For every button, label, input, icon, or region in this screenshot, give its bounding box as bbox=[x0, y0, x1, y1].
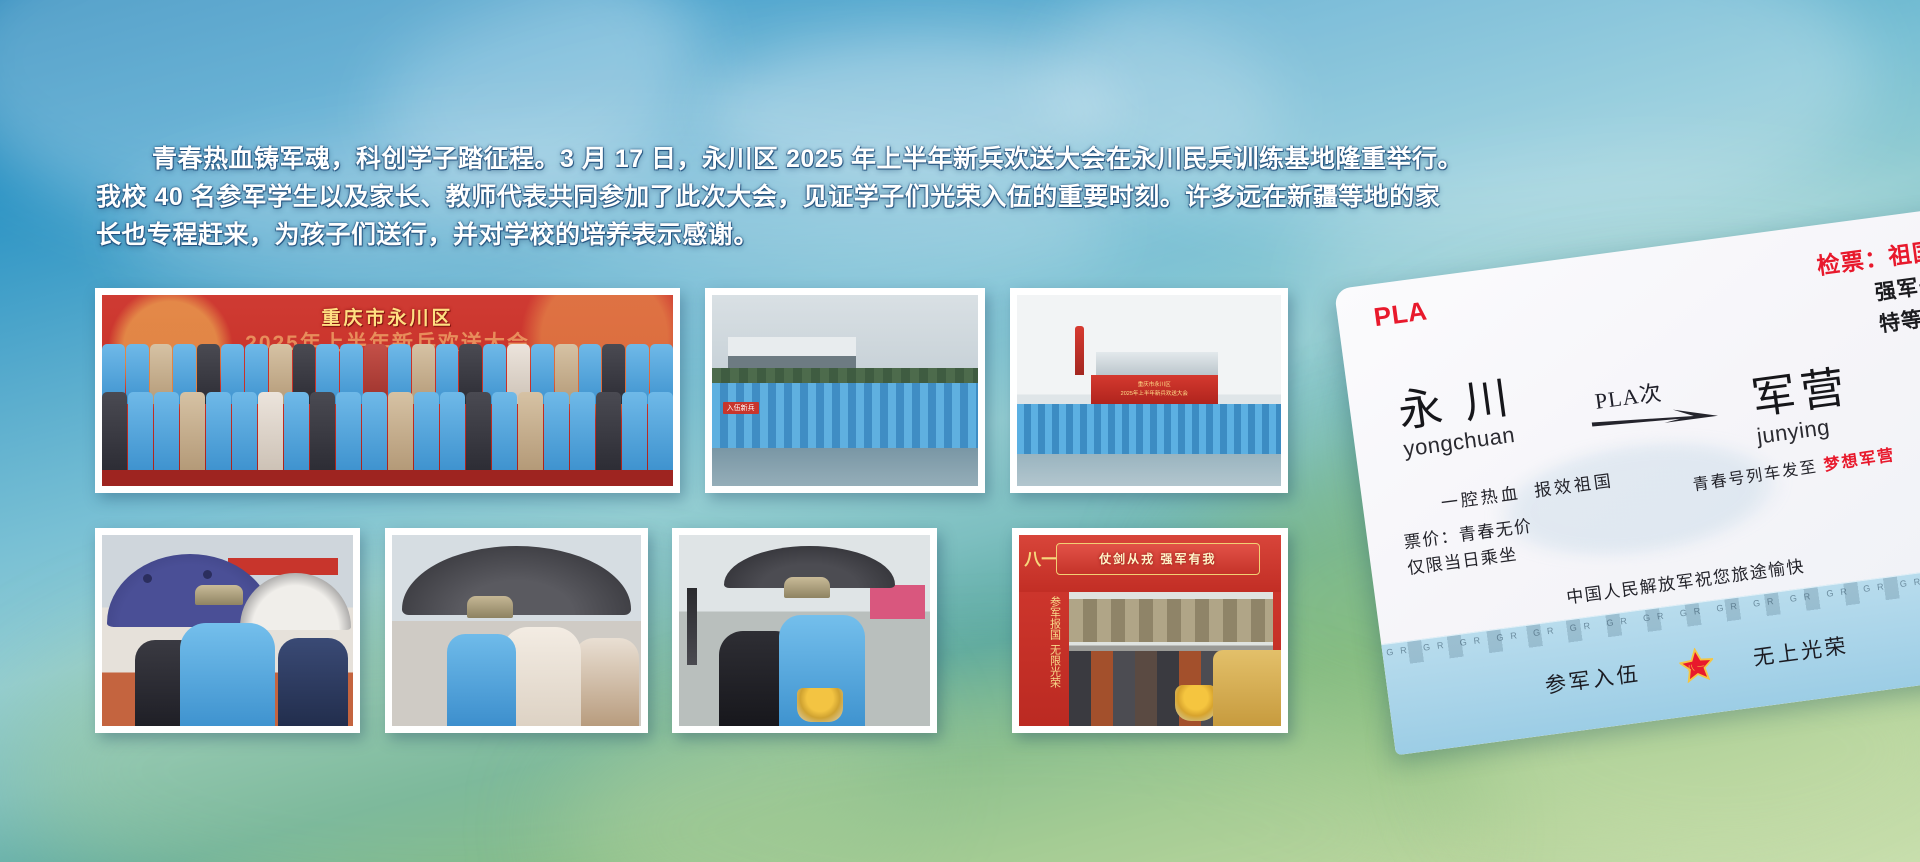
ticket-check-value: 祖国 bbox=[1887, 238, 1920, 270]
photo-umbrella-farewell[interactable] bbox=[95, 528, 360, 733]
crowd bbox=[102, 342, 673, 470]
recruit bbox=[447, 634, 517, 726]
photo-black-umbrella[interactable] bbox=[385, 528, 648, 733]
photo-image: 重庆市永川区 2025年上半年新兵欢送大会 bbox=[1017, 295, 1281, 486]
ticket-train-number-block: PLA次 bbox=[1585, 365, 1740, 434]
ticket-destination: 军营 junying bbox=[1749, 364, 1856, 450]
recruit bbox=[180, 623, 275, 726]
military-cap-icon bbox=[467, 596, 513, 618]
red-carpet bbox=[102, 470, 673, 486]
ticket-brand-label: PLA bbox=[1372, 295, 1429, 333]
couplet-line-2: 无限光荣 bbox=[1026, 644, 1061, 688]
black-umbrella-icon bbox=[402, 546, 631, 615]
photo-image: 入伍新兵 bbox=[712, 295, 978, 486]
ticket-bottom-right-text: 无上光荣 bbox=[1751, 630, 1850, 672]
wet-ground bbox=[1017, 454, 1281, 486]
backdrop-title: 重庆市永川区 bbox=[102, 303, 673, 330]
photo-red-arch[interactable]: 八一 仗剑从戎 强军有我 参军报国 无限光荣 bbox=[1012, 528, 1288, 733]
headline-paragraph: 青春热血铸军魂，科创学子踏征程。3 月 17 日，永川区 2025 年上半年新兵… bbox=[96, 140, 1566, 254]
bystander bbox=[278, 638, 348, 726]
ticket-origin: 永 川 yongchuan bbox=[1396, 375, 1520, 463]
ticket-fare-value: 青春无价 bbox=[1458, 516, 1534, 545]
arch-scroll-text: 仗剑从戎 强军有我 bbox=[1056, 543, 1260, 575]
photo-image: 重庆市永川区 2025年上半年新兵欢送大会 bbox=[102, 295, 673, 486]
crowd-front-row bbox=[102, 392, 673, 470]
poster-canvas: 青春热血铸军魂，科创学子踏征程。3 月 17 日，永川区 2025 年上半年新兵… bbox=[0, 0, 1920, 862]
stage-banner-line-1: 重庆市永川区 bbox=[1091, 381, 1218, 389]
flower-bouquet-icon bbox=[797, 688, 843, 722]
gold-pillar bbox=[1213, 650, 1281, 726]
photo-embrace[interactable] bbox=[672, 528, 937, 733]
photo-image bbox=[679, 535, 930, 726]
bayi-badge: 八一 bbox=[1024, 539, 1058, 581]
ticket-route-destination: 梦想军营 bbox=[1823, 447, 1897, 475]
photo-image bbox=[102, 535, 353, 726]
ticket-fare-label: 票价： bbox=[1403, 526, 1461, 552]
photo-image bbox=[392, 535, 641, 726]
ticket-check-label: 检票： bbox=[1815, 244, 1890, 279]
photo-image: 八一 仗剑从戎 强军有我 参军报国 无限光荣 bbox=[1019, 535, 1281, 726]
arch-side-couplet: 参军报国 无限光荣 bbox=[1024, 592, 1063, 722]
family-member bbox=[574, 638, 639, 726]
recruit-ranks bbox=[1017, 404, 1281, 454]
flag-tower bbox=[1075, 326, 1084, 376]
stage-banner: 重庆市永川区 2025年上半年新兵欢送大会 bbox=[1091, 375, 1218, 404]
recruit-ranks bbox=[712, 383, 978, 448]
train-ticket-graphic[interactable]: PLA 检票：祖国 强军号 特等座 永 川 yongchuan PLA次 军营 bbox=[1334, 207, 1920, 755]
red-star-icon: 八一 bbox=[1678, 646, 1716, 684]
photo-ceremony-stage[interactable]: 重庆市永川区 2025年上半年新兵欢送大会 bbox=[1010, 288, 1288, 493]
wet-ground bbox=[712, 448, 978, 486]
flower-bouquet-icon bbox=[1175, 685, 1217, 721]
couplet-line-1: 参军报国 bbox=[1026, 596, 1061, 640]
soldiers-back-row bbox=[1069, 599, 1273, 642]
ticket-card: PLA 检票：祖国 强军号 特等座 永 川 yongchuan PLA次 军营 bbox=[1334, 207, 1920, 755]
field-sign: 入伍新兵 bbox=[723, 402, 759, 414]
military-cap-icon bbox=[195, 585, 243, 605]
photo-formation[interactable]: 入伍新兵 bbox=[705, 288, 985, 493]
headline-line-3: 长也专程赶来，为孩子们送行，并对学校的培养表示感谢。 bbox=[96, 216, 1566, 254]
ticket-bottom-left-text: 参军入伍 bbox=[1543, 657, 1642, 699]
ticket-bottom-slogan: 参军入伍 八一 无上光荣 bbox=[1387, 607, 1920, 723]
pink-backdrop bbox=[870, 585, 925, 619]
flag-pole bbox=[687, 588, 697, 664]
photo-group-shot[interactable]: 重庆市永川区 2025年上半年新兵欢送大会 bbox=[95, 288, 680, 493]
headline-line-1: 青春热血铸军魂，科创学子踏征程。3 月 17 日，永川区 2025 年上半年新兵… bbox=[96, 140, 1566, 178]
military-cap-icon bbox=[784, 577, 830, 598]
headline-line-2: 我校 40 名参军学生以及家长、教师代表共同参加了此次大会，见证学子们光荣入伍的… bbox=[96, 178, 1566, 216]
stage-banner-line-2: 2025年上半年新兵欢送大会 bbox=[1091, 390, 1218, 398]
ticket-check-block: 检票：祖国 强军号 特等座 bbox=[1815, 232, 1920, 346]
